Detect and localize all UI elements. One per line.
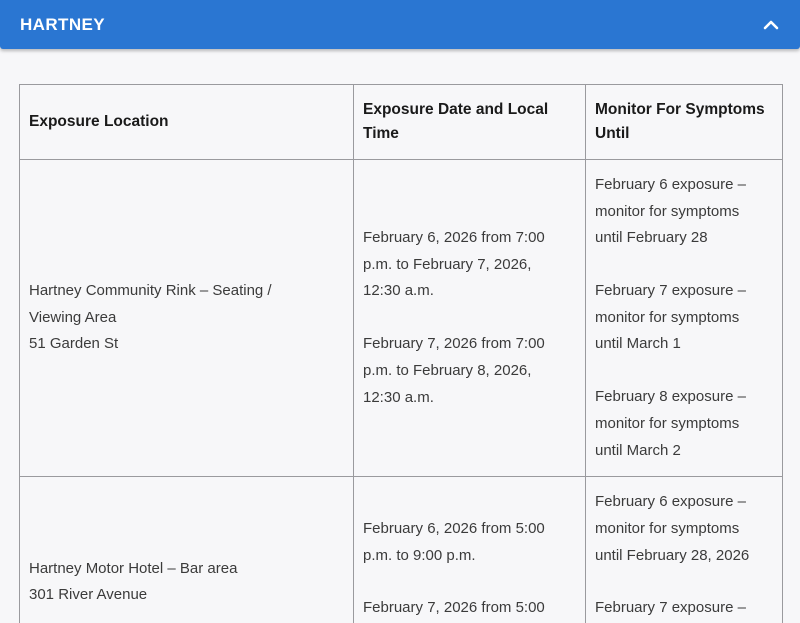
monitor-line: February 8 exposure – [595,384,770,411]
monitor-line: monitor for symptoms [595,516,770,543]
monitor-line: until March 2 [595,438,770,465]
date-entry: February 7, 2026 from 5:00 p.m. to 9:00 … [363,595,573,623]
accordion-header-hartney[interactable]: HARTNEY [0,0,800,49]
date-line: p.m. to 9:00 p.m. [363,543,573,570]
monitor-entry: February 6 exposure – monitor for sympto… [595,172,770,252]
column-header-monitor-until: Monitor For Symptoms Until [586,85,783,160]
location-line: Viewing Area [29,305,341,332]
date-line: February 7, 2026 from 7:00 [363,331,573,358]
monitor-line: until February 28, 2026 [595,543,770,570]
column-header-exposure-date-time: Exposure Date and Local Time [354,85,586,160]
location-text: Hartney Community Rink – Seating / Viewi… [29,278,341,358]
date-line: p.m. to February 8, 2026, [363,358,573,385]
chevron-up-icon[interactable] [760,14,782,36]
monitor-entry: February 7 exposure – monitor for sympto… [595,278,770,358]
cell-exposure-date-time: February 6, 2026 from 5:00 p.m. to 9:00 … [354,477,586,623]
date-entry: February 6, 2026 from 5:00 p.m. to 9:00 … [363,516,573,569]
monitor-entry: February 8 exposure – monitor for sympto… [595,384,770,464]
monitor-line: monitor for symptoms [595,199,770,226]
monitor-line: monitor for symptoms [595,305,770,332]
page-root: HARTNEY Exposure Location Exposure Date … [0,0,800,623]
date-line: 12:30 a.m. [363,278,573,305]
table-row: Hartney Community Rink – Seating / Viewi… [20,160,783,477]
date-line: February 7, 2026 from 5:00 [363,595,573,622]
table-header-row: Exposure Location Exposure Date and Loca… [20,85,783,160]
monitor-line: until February 28 [595,225,770,252]
monitor-line: February 6 exposure – [595,489,770,516]
table-header: Exposure Location Exposure Date and Loca… [20,85,783,160]
location-text: Hartney Motor Hotel – Bar area 301 River… [29,556,341,609]
accordion-title: HARTNEY [20,16,105,33]
date-line: p.m. to February 7, 2026, [363,252,573,279]
cell-exposure-date-time: February 6, 2026 from 7:00 p.m. to Febru… [354,160,586,477]
monitor-line: until March 1 [595,331,770,358]
table-row: Hartney Motor Hotel – Bar area 301 River… [20,477,783,623]
cell-monitor-until: February 6 exposure – monitor for sympto… [586,160,783,477]
location-address-line: 301 River Avenue [29,582,341,609]
location-line: Hartney Motor Hotel – Bar area [29,556,341,583]
cell-exposure-location: Hartney Motor Hotel – Bar area 301 River… [20,477,354,623]
cell-exposure-location: Hartney Community Rink – Seating / Viewi… [20,160,354,477]
date-entry: February 7, 2026 from 7:00 p.m. to Febru… [363,331,573,411]
date-line: February 6, 2026 from 7:00 [363,225,573,252]
exposure-table-wrapper: Exposure Location Exposure Date and Loca… [19,84,782,623]
date-line: February 6, 2026 from 5:00 [363,516,573,543]
location-line: Hartney Community Rink – Seating / [29,278,341,305]
monitor-entry: February 7 exposure – monitor for sympto… [595,595,770,623]
date-line: 12:30 a.m. [363,385,573,412]
monitor-line: February 7 exposure – [595,595,770,622]
date-entry: February 6, 2026 from 7:00 p.m. to Febru… [363,225,573,305]
column-header-exposure-location: Exposure Location [20,85,354,160]
monitor-line: monitor for symptoms [595,411,770,438]
monitor-line: February 6 exposure – [595,172,770,199]
cell-monitor-until: February 6 exposure – monitor for sympto… [586,477,783,623]
monitor-line: February 7 exposure – [595,278,770,305]
location-address-line: 51 Garden St [29,331,341,358]
exposure-table: Exposure Location Exposure Date and Loca… [19,84,783,623]
monitor-entry: February 6 exposure – monitor for sympto… [595,489,770,569]
table-body: Hartney Community Rink – Seating / Viewi… [20,160,783,623]
